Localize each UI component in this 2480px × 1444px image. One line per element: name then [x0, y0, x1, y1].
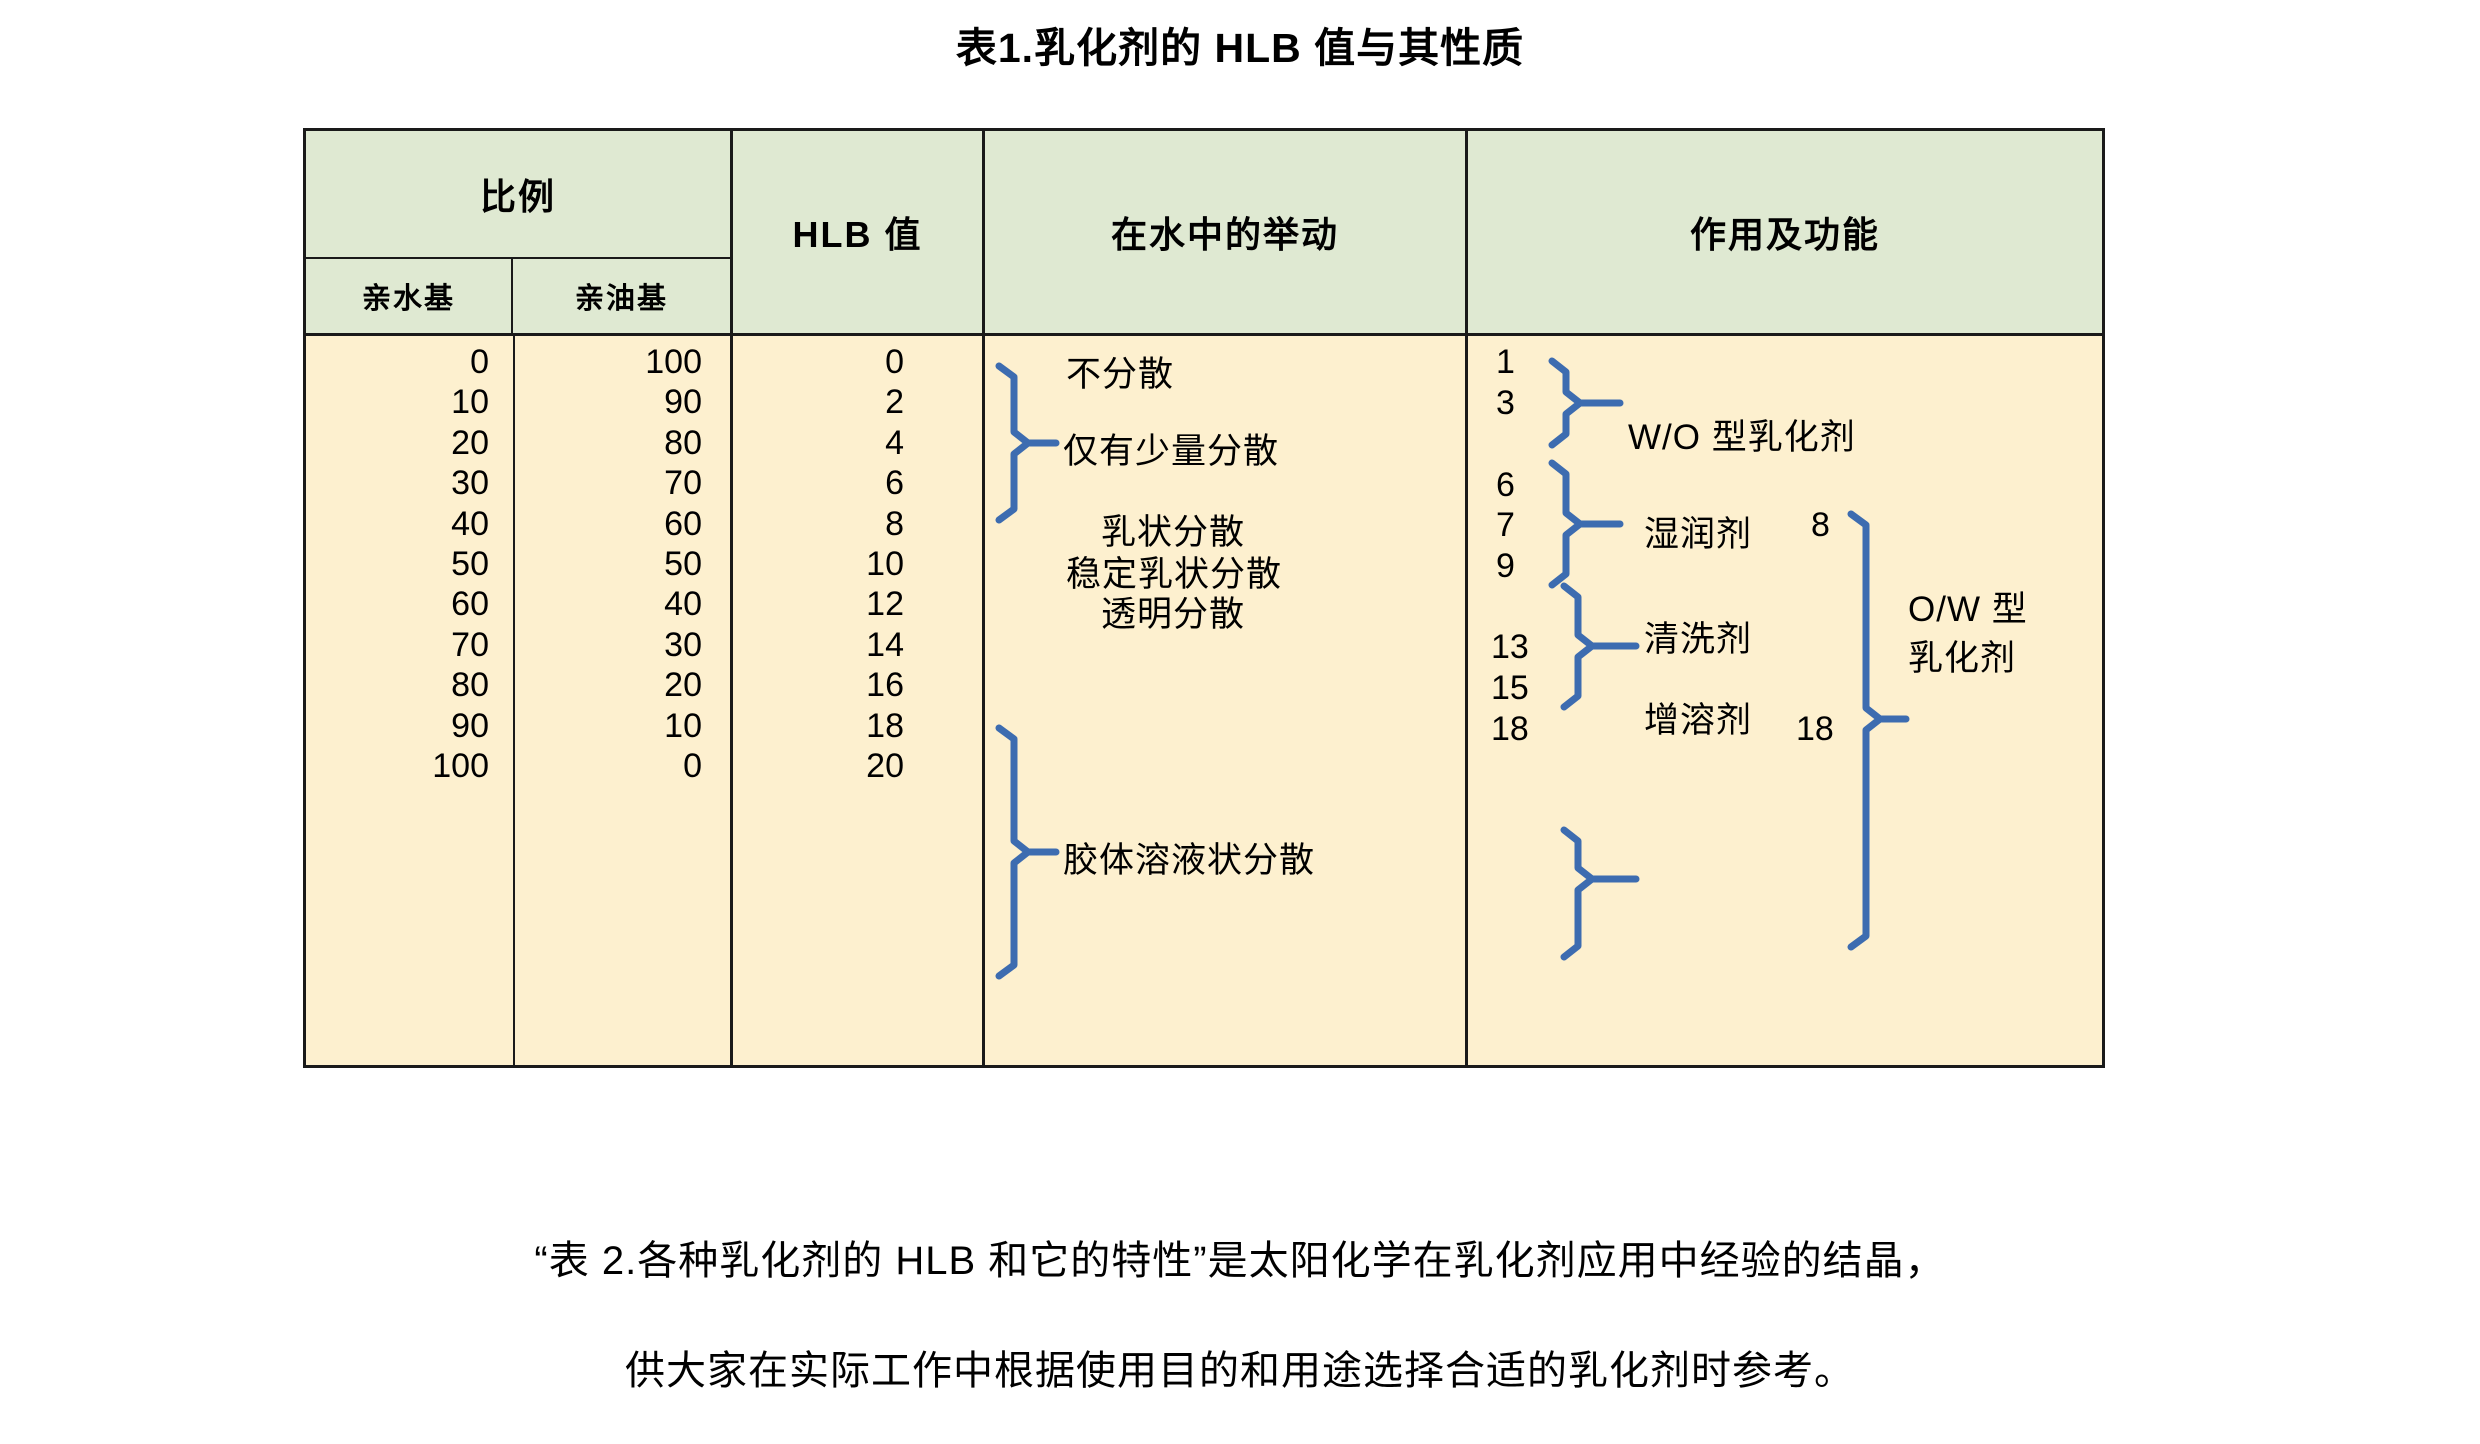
cell-lipophilic: 30	[513, 625, 702, 665]
brace-function-13-18	[1564, 830, 1592, 957]
header-hydrophilic: 亲水基	[306, 259, 513, 333]
brace-function-6-9	[1564, 586, 1592, 707]
cell-hydrophilic: 70	[306, 625, 489, 665]
header-ratio: 比例	[306, 131, 730, 259]
header-behavior: 在水中的举动	[982, 131, 1465, 333]
function-mark: 6	[1496, 466, 1515, 505]
column-divider-behavior	[982, 336, 985, 1065]
page-title: 表1.乳化剂的 HLB 值与其性质	[0, 14, 2480, 74]
cell-lipophilic: 60	[513, 504, 702, 544]
cell-hlb: 0	[730, 342, 904, 382]
cell-hydrophilic: 100	[306, 746, 489, 786]
cell-hydrophilic: 30	[306, 463, 489, 503]
cell-lipophilic: 80	[513, 423, 702, 463]
cell-hlb: 18	[730, 706, 904, 746]
function-label: 湿润剂	[1644, 506, 1752, 557]
outer-bracket-start: 8	[1811, 506, 1830, 545]
cell-lipophilic: 100	[513, 342, 702, 382]
cell-lipophilic: 10	[513, 706, 702, 746]
cell-lipophilic: 20	[513, 665, 702, 705]
cell-hydrophilic: 10	[306, 382, 489, 422]
column-lipophilic: 100 90 80 70 60 50 40 30 20 10 0	[513, 336, 730, 1065]
cell-hydrophilic: 40	[306, 504, 489, 544]
cell-hlb: 14	[730, 625, 904, 665]
cell-hydrophilic: 80	[306, 665, 489, 705]
behavior-label: 透明分散	[1101, 586, 1245, 637]
function-mark: 18	[1491, 710, 1529, 749]
column-hydrophilic: 0 10 20 30 40 50 60 70 80 90 100	[306, 336, 513, 1065]
outer-bracket-label-line1: O/W 型	[1908, 581, 2028, 632]
paragraph-line-1: “表 2.各种乳化剂的 HLB 和它的特性”是太阳化学在乳化剂应用中经验的结晶，	[0, 1228, 2480, 1286]
cell-lipophilic: 70	[513, 463, 702, 503]
brace-behavior-14-20	[999, 728, 1028, 976]
outer-bracket-end: 18	[1796, 710, 1834, 749]
document-page: 表1.乳化剂的 HLB 值与其性质 比例 亲水基 亲油基 HLB 值 在水中的举…	[0, 0, 2480, 1444]
function-label: W/O 型乳化剂	[1628, 409, 1856, 460]
cell-hlb: 4	[730, 423, 904, 463]
cell-lipophilic: 40	[513, 584, 702, 624]
brace-function-1-3	[1552, 361, 1580, 445]
function-label: 增溶剂	[1644, 692, 1752, 743]
header-function: 作用及功能	[1465, 131, 2102, 333]
column-divider-function	[1465, 336, 1468, 1065]
brace-outer-ow	[1851, 514, 1880, 947]
cell-hydrophilic: 0	[306, 342, 489, 382]
cell-hlb: 8	[730, 504, 904, 544]
function-mark: 15	[1491, 669, 1529, 708]
cell-hlb: 10	[730, 544, 904, 584]
cell-lipophilic: 0	[513, 746, 702, 786]
cell-hydrophilic: 20	[306, 423, 489, 463]
function-mark: 1	[1496, 343, 1515, 382]
function-mark: 3	[1496, 384, 1515, 423]
cell-hlb: 16	[730, 665, 904, 705]
brace-behavior-2-6	[999, 366, 1028, 520]
column-hlb: 0 2 4 6 8 10 12 14 16 18 20	[730, 336, 982, 1065]
cell-hlb: 12	[730, 584, 904, 624]
outer-bracket-label-line2: 乳化剂	[1908, 630, 2016, 681]
hlb-table: 比例 亲水基 亲油基 HLB 值 在水中的举动 作用及功能 0 10 20 30…	[303, 128, 2105, 1068]
behavior-label: 胶体溶液状分散	[1063, 832, 1315, 883]
function-mark: 13	[1491, 628, 1529, 667]
header-hlb: HLB 值	[730, 131, 982, 333]
cell-hydrophilic: 60	[306, 584, 489, 624]
behavior-label: 不分散	[1066, 346, 1174, 397]
table-header: 比例 亲水基 亲油基 HLB 值 在水中的举动 作用及功能	[306, 131, 2102, 336]
brace-function-3-6	[1552, 463, 1580, 585]
table-body: 0 10 20 30 40 50 60 70 80 90 100 100 90 …	[306, 336, 2102, 1065]
cell-hlb: 2	[730, 382, 904, 422]
header-lipophilic: 亲油基	[513, 259, 730, 333]
cell-lipophilic: 90	[513, 382, 702, 422]
cell-lipophilic: 50	[513, 544, 702, 584]
function-label: 清洗剂	[1644, 611, 1752, 662]
function-mark: 7	[1496, 506, 1515, 545]
cell-hlb: 6	[730, 463, 904, 503]
cell-hlb: 20	[730, 746, 904, 786]
cell-hydrophilic: 50	[306, 544, 489, 584]
behavior-label: 仅有少量分散	[1063, 423, 1279, 474]
function-mark: 9	[1496, 547, 1515, 586]
cell-hydrophilic: 90	[306, 706, 489, 746]
paragraph-line-2: 供大家在实际工作中根据使用目的和用途选择合适的乳化剂时参考。	[0, 1338, 2480, 1396]
